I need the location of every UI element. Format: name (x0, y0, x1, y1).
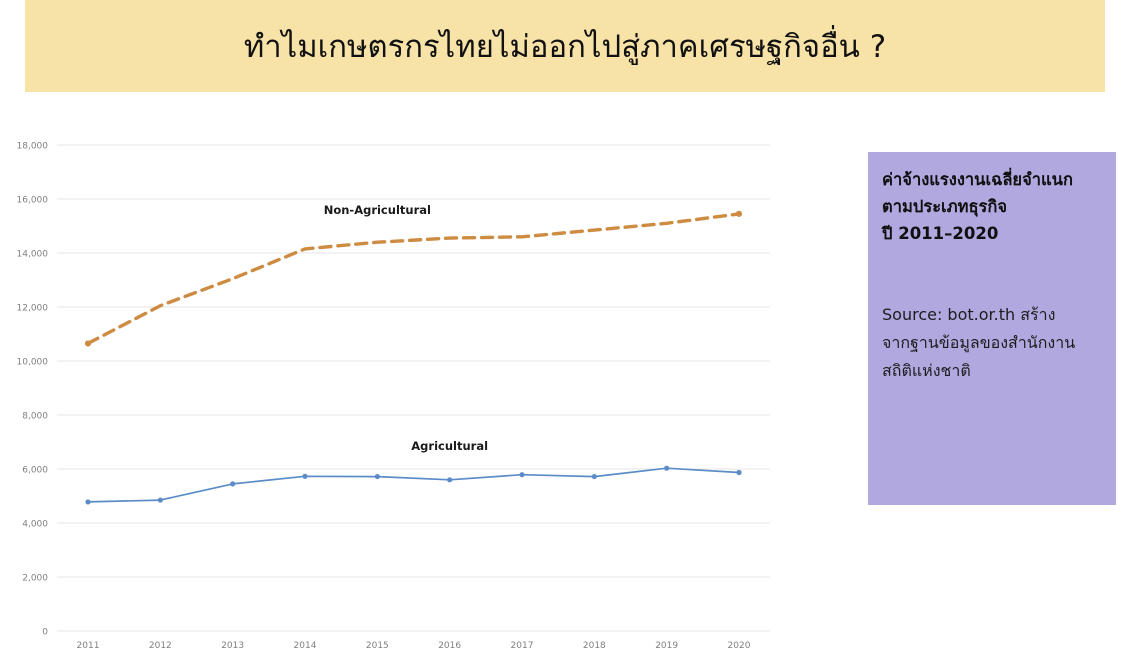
caption-source-line-1: Source: bot.or.th สร้าง (882, 301, 1106, 329)
x-tick-label: 2013 (221, 641, 244, 651)
x-tick-label: 2018 (583, 641, 606, 651)
y-tick-label: 12,000 (17, 304, 49, 314)
wage-line-chart: 02,0004,0006,0008,00010,00012,00014,0001… (0, 120, 800, 654)
caption-spacer (882, 247, 1106, 301)
y-tick-label: 16,000 (17, 196, 49, 206)
chart-y-axis-labels: 02,0004,0006,0008,00010,00012,00014,0001… (17, 142, 49, 638)
title-band: ทำไมเกษตรกรไทยไม่ออกไปสู่ภาคเศรษฐกิจอื่น… (25, 0, 1105, 92)
x-tick-label: 2015 (366, 641, 389, 651)
series-point (519, 472, 524, 477)
y-tick-label: 18,000 (17, 142, 49, 152)
series-point (736, 211, 742, 217)
series-point (302, 474, 307, 479)
series-inline-label: Non-Agricultural (324, 203, 431, 217)
y-tick-label: 2,000 (22, 574, 48, 584)
x-tick-label: 2020 (728, 641, 751, 651)
x-tick-label: 2017 (511, 641, 534, 651)
series-point (736, 470, 741, 475)
series-inline-label: Agricultural (411, 439, 488, 453)
series-point (664, 466, 669, 471)
series-point (230, 481, 235, 486)
x-tick-label: 2019 (655, 641, 678, 651)
chart-series (88, 214, 739, 502)
series-line (88, 468, 739, 502)
series-point (85, 499, 90, 504)
y-tick-label: 14,000 (17, 250, 49, 260)
caption-heading-line-3: ปี 2011–2020 (882, 220, 1106, 247)
series-point (158, 497, 163, 502)
y-tick-label: 10,000 (17, 358, 49, 368)
caption-heading-line-2: ตามประเภทธุรกิจ (882, 193, 1106, 220)
y-tick-label: 4,000 (22, 520, 48, 530)
page-title: ทำไมเกษตรกรไทยไม่ออกไปสู่ภาคเศรษฐกิจอื่น… (244, 21, 886, 71)
caption-source-line-2: จากฐานข้อมูลของสำนักงาน (882, 329, 1106, 357)
y-tick-label: 8,000 (22, 412, 48, 422)
chart-panel: 02,0004,0006,0008,00010,00012,00014,0001… (0, 120, 800, 654)
series-point (447, 477, 452, 482)
chart-gridlines (57, 145, 770, 631)
caption-source-line-3: สถิติแห่งชาติ (882, 357, 1106, 385)
caption-box: ค่าจ้างแรงงานเฉลี่ยจำแนก ตามประเภทธุรกิจ… (868, 152, 1116, 505)
caption-heading-line-1: ค่าจ้างแรงงานเฉลี่ยจำแนก (882, 166, 1106, 193)
series-point (375, 474, 380, 479)
chart-series-markers (85, 211, 742, 505)
x-tick-label: 2011 (77, 641, 100, 651)
chart-x-axis-labels: 2011201220132014201520162017201820192020 (77, 641, 751, 651)
x-tick-label: 2016 (438, 641, 461, 651)
series-point (592, 474, 597, 479)
x-tick-label: 2014 (294, 641, 317, 651)
y-tick-label: 0 (42, 628, 48, 638)
y-tick-label: 6,000 (22, 466, 48, 476)
series-point (85, 340, 91, 346)
series-line (88, 214, 739, 344)
x-tick-label: 2012 (149, 641, 172, 651)
